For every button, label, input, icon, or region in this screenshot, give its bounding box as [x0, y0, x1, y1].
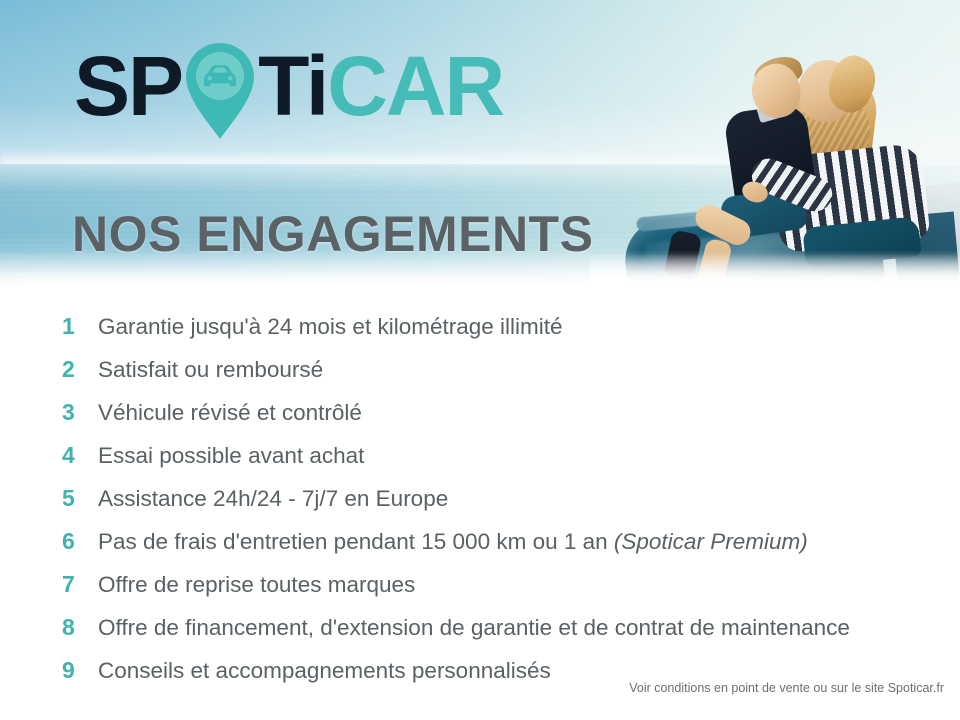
list-item: 6 Pas de frais d'entretien pendant 15 00…	[62, 520, 942, 563]
commitments-list: 1 Garantie jusqu'à 24 mois et kilométrag…	[62, 305, 942, 692]
list-item-text: Garantie jusqu'à 24 mois et kilométrage …	[98, 305, 563, 348]
list-item-text-emphasis: (Spoticar Premium)	[614, 529, 808, 554]
list-item-number: 1	[62, 305, 98, 348]
list-item-text: Offre de financement, d'extension de gar…	[98, 606, 850, 649]
hero-photo	[590, 0, 960, 288]
map-pin-car-icon	[182, 41, 258, 154]
list-item-text-main: Pas de frais d'entretien pendant 15 000 …	[98, 529, 614, 554]
hero-photo-scene	[590, 0, 960, 288]
logo-text-car: CAR	[327, 44, 503, 128]
list-item: 5 Assistance 24h/24 - 7j/7 en Europe	[62, 477, 942, 520]
list-item-number: 2	[62, 348, 98, 391]
list-item-text: Satisfait ou remboursé	[98, 348, 323, 391]
list-item-text: Véhicule révisé et contrôlé	[98, 391, 362, 434]
list-item: 1 Garantie jusqu'à 24 mois et kilométrag…	[62, 305, 942, 348]
list-item-number: 3	[62, 391, 98, 434]
logo-text-ti: Ti	[258, 44, 327, 128]
list-item-text: Offre de reprise toutes marques	[98, 563, 415, 606]
list-item-text: Essai possible avant achat	[98, 434, 364, 477]
list-item-text: Pas de frais d'entretien pendant 15 000 …	[98, 520, 808, 563]
list-item-number: 9	[62, 649, 98, 692]
list-item: 8 Offre de financement, d'extension de g…	[62, 606, 942, 649]
spoticar-commitments-poster: SP TiCAR NOS ENGAGEMENTS 1 Garanti	[0, 0, 960, 720]
list-item-number: 8	[62, 606, 98, 649]
list-item: 7 Offre de reprise toutes marques	[62, 563, 942, 606]
list-item-number: 6	[62, 520, 98, 563]
page-title: NOS ENGAGEMENTS	[72, 205, 593, 263]
hero-banner: SP TiCAR NOS ENGAGEMENTS	[0, 0, 960, 288]
legal-disclaimer: Voir conditions en point de vente ou sur…	[629, 681, 944, 695]
list-item-text: Conseils et accompagnements personnalisé…	[98, 649, 551, 692]
spoticar-logo: SP TiCAR	[74, 44, 503, 128]
list-item: 4 Essai possible avant achat	[62, 434, 942, 477]
list-item-number: 7	[62, 563, 98, 606]
list-item-number: 4	[62, 434, 98, 477]
logo-pin-slot	[182, 44, 258, 128]
list-item-number: 5	[62, 477, 98, 520]
spoticar-logo-wordmark: SP TiCAR	[74, 44, 503, 128]
logo-text-sp: SP	[74, 44, 182, 128]
list-item: 3 Véhicule révisé et contrôlé	[62, 391, 942, 434]
list-item-text: Assistance 24h/24 - 7j/7 en Europe	[98, 477, 448, 520]
list-item: 2 Satisfait ou remboursé	[62, 348, 942, 391]
